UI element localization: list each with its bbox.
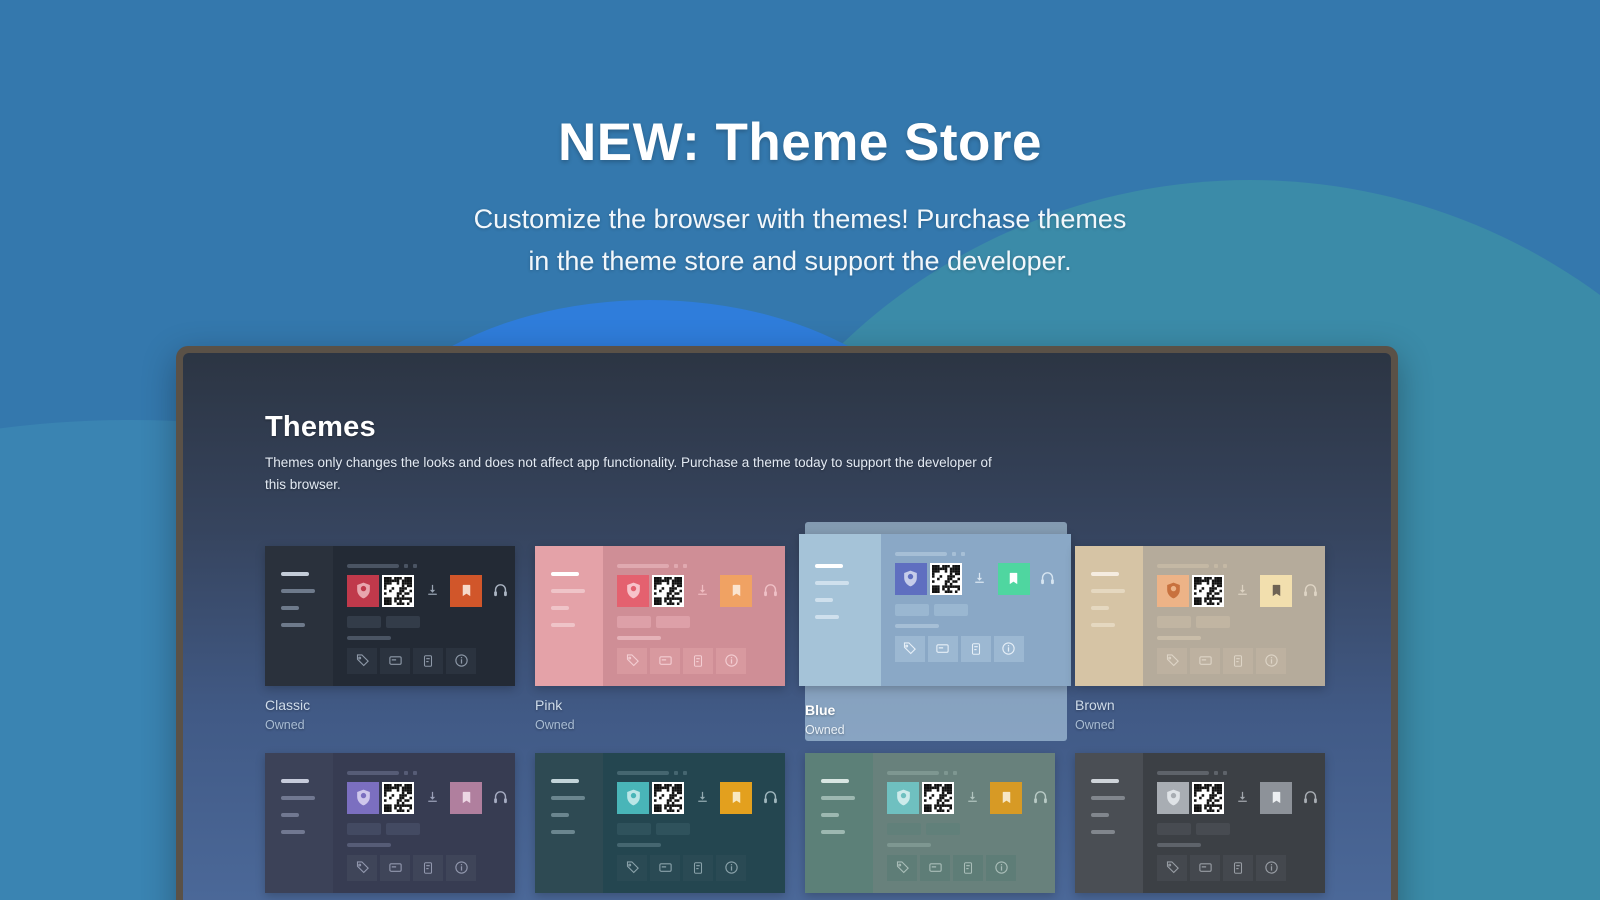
headphones-icon	[1295, 575, 1325, 607]
preview-header	[347, 564, 515, 568]
preview-header	[347, 771, 515, 775]
page-description: Themes only changes the looks and does n…	[265, 452, 1005, 496]
preview-sidebar-item	[281, 623, 305, 627]
book-icon	[953, 855, 983, 881]
preview-sidebar-item	[815, 615, 839, 619]
download-icon	[687, 782, 717, 814]
preview-sidebar-item	[1091, 589, 1125, 593]
preview-sidebar-item	[281, 796, 315, 800]
promo-subtitle-line-1: Customize the browser with themes! Purch…	[0, 199, 1600, 241]
shield-icon	[1157, 782, 1189, 814]
preview-content	[1143, 753, 1325, 893]
preview-app-row	[617, 782, 785, 814]
preview-sidebar	[805, 753, 873, 893]
preview-header-dot	[1214, 771, 1218, 775]
preview-sidebar-item	[281, 589, 315, 593]
book-icon	[961, 636, 991, 662]
preview-header-dot	[674, 771, 678, 775]
promo-subtitle-line-2: in the theme store and support the devel…	[0, 241, 1600, 283]
preview-content	[873, 753, 1055, 893]
preview-bottom-row	[895, 636, 1071, 662]
qr-code-icon	[1192, 782, 1224, 814]
preview-sidebar-item-active	[815, 564, 843, 568]
preview-bottom-row	[1157, 648, 1325, 674]
preview-sidebar-item	[1091, 796, 1125, 800]
preview-section-label	[887, 843, 931, 847]
preview-header-dot	[944, 771, 948, 775]
info-icon	[446, 855, 476, 881]
preview-pill-row	[617, 823, 785, 835]
preview-pill	[895, 604, 929, 616]
theme-preview[interactable]	[265, 753, 515, 893]
preview-pill	[386, 616, 420, 628]
theme-card[interactable]: BlueOwned	[805, 522, 1067, 741]
preview-sidebar	[535, 753, 603, 893]
preview-sidebar-item-active	[1091, 572, 1119, 576]
preview-header-dot	[1223, 564, 1227, 568]
window-icon	[380, 855, 410, 881]
preview-pill-row	[347, 616, 515, 628]
preview-pill-row	[887, 823, 1055, 835]
book-icon	[1223, 855, 1253, 881]
qr-code-icon	[922, 782, 954, 814]
shield-icon	[347, 575, 379, 607]
preview-header-dot	[952, 552, 956, 556]
theme-grid: ClassicOwnedPinkOwnedBlueOwnedBrownOwned	[265, 534, 1365, 900]
window-icon	[920, 855, 950, 881]
preview-sidebar	[535, 546, 603, 686]
preview-header	[895, 552, 1071, 556]
preview-pill	[617, 616, 651, 628]
preview-bottom-row	[617, 648, 785, 674]
theme-card[interactable]: PinkOwned	[535, 534, 797, 741]
download-icon	[1227, 782, 1257, 814]
tag-icon	[895, 636, 925, 662]
preview-pill-row	[1157, 616, 1325, 628]
bookmark-icon	[1260, 575, 1292, 607]
preview-sidebar	[1075, 753, 1143, 893]
preview-header-dot	[961, 552, 965, 556]
preview-header-bar	[1157, 564, 1209, 568]
theme-preview[interactable]	[805, 753, 1055, 893]
book-icon	[683, 855, 713, 881]
info-icon	[716, 648, 746, 674]
preview-sidebar-item-active	[281, 779, 309, 783]
preview-section-label	[617, 843, 661, 847]
info-icon	[446, 648, 476, 674]
shield-icon	[887, 782, 919, 814]
theme-card[interactable]: BrownOwned	[1075, 534, 1337, 741]
preview-sidebar-item	[281, 606, 299, 610]
theme-name: Blue	[805, 702, 1067, 718]
bookmark-icon	[720, 782, 752, 814]
theme-status: Owned	[1075, 718, 1337, 732]
qr-code-icon	[382, 575, 414, 607]
preview-sidebar-item	[551, 589, 585, 593]
preview-pill	[1196, 823, 1230, 835]
headphones-icon	[1025, 782, 1055, 814]
theme-preview[interactable]	[265, 546, 515, 686]
shield-icon	[347, 782, 379, 814]
preview-header-dot	[953, 771, 957, 775]
preview-sidebar-item-active	[281, 572, 309, 576]
preview-header-bar	[347, 771, 399, 775]
bookmark-icon	[450, 782, 482, 814]
preview-content	[333, 546, 515, 686]
shield-icon	[617, 782, 649, 814]
preview-header-bar	[1157, 771, 1209, 775]
preview-sidebar-item-active	[551, 572, 579, 576]
theme-preview[interactable]	[799, 534, 1071, 686]
preview-sidebar-item	[821, 796, 855, 800]
preview-sidebar-item	[815, 598, 833, 602]
preview-pill	[1196, 616, 1230, 628]
preview-section-label	[1157, 636, 1201, 640]
promo-subtitle: Customize the browser with themes! Purch…	[0, 199, 1600, 283]
preview-sidebar-item	[551, 623, 575, 627]
preview-sidebar	[1075, 546, 1143, 686]
preview-pill	[347, 823, 381, 835]
book-icon	[413, 855, 443, 881]
promo-banner: NEW: Theme Store Customize the browser w…	[0, 0, 1600, 283]
device-mockup: Themes Themes only changes the looks and…	[176, 346, 1398, 900]
preview-header-bar	[895, 552, 947, 556]
download-icon	[1227, 575, 1257, 607]
tag-icon	[887, 855, 917, 881]
preview-pill-row	[347, 823, 515, 835]
info-icon	[716, 855, 746, 881]
preview-header-dot	[404, 564, 408, 568]
qr-code-icon	[382, 782, 414, 814]
preview-sidebar-item	[551, 796, 585, 800]
headphones-icon	[1295, 782, 1325, 814]
qr-code-icon	[930, 563, 962, 595]
preview-header-bar	[617, 771, 669, 775]
theme-card[interactable]: ClassicOwned	[265, 534, 527, 741]
tag-icon	[347, 648, 377, 674]
preview-sidebar	[265, 753, 333, 893]
bookmark-icon	[450, 575, 482, 607]
preview-section-label	[347, 843, 391, 847]
bookmark-icon	[1260, 782, 1292, 814]
theme-preview[interactable]	[1075, 546, 1325, 686]
preview-sidebar-item	[551, 606, 569, 610]
preview-sidebar-item	[551, 830, 575, 834]
info-icon	[1256, 648, 1286, 674]
book-icon	[413, 648, 443, 674]
bookmark-icon	[998, 563, 1030, 595]
window-icon	[380, 648, 410, 674]
bookmark-icon	[990, 782, 1022, 814]
preview-app-row	[1157, 575, 1325, 607]
headphones-icon	[755, 782, 785, 814]
preview-content	[603, 753, 785, 893]
theme-name: Pink	[535, 697, 797, 713]
theme-status: Owned	[805, 723, 1067, 737]
download-icon	[965, 563, 995, 595]
preview-header-bar	[887, 771, 939, 775]
window-icon	[1190, 855, 1220, 881]
theme-status: Owned	[265, 718, 527, 732]
theme-preview[interactable]	[535, 753, 785, 893]
preview-pill	[934, 604, 968, 616]
preview-sidebar-item	[551, 813, 569, 817]
tag-icon	[1157, 855, 1187, 881]
preview-pill-row	[617, 616, 785, 628]
preview-header	[617, 564, 785, 568]
preview-sidebar-item-active	[551, 779, 579, 783]
headphones-icon	[755, 575, 785, 607]
preview-bottom-row	[347, 648, 515, 674]
tag-icon	[1157, 648, 1187, 674]
preview-content	[333, 753, 515, 893]
preview-header-dot	[683, 564, 687, 568]
theme-card[interactable]	[805, 741, 1067, 900]
theme-preview[interactable]	[535, 546, 785, 686]
preview-section-label	[347, 636, 391, 640]
theme-preview[interactable]	[1075, 753, 1325, 893]
preview-sidebar-item	[821, 830, 845, 834]
theme-status: Owned	[535, 718, 797, 732]
preview-pill-row	[1157, 823, 1325, 835]
preview-pill	[926, 823, 960, 835]
preview-bottom-row	[617, 855, 785, 881]
preview-sidebar-item-active	[1091, 779, 1119, 783]
info-icon	[994, 636, 1024, 662]
preview-sidebar-item	[815, 581, 849, 585]
preview-section-label	[1157, 843, 1201, 847]
device-screen: Themes Themes only changes the looks and…	[183, 353, 1391, 900]
preview-app-row	[1157, 782, 1325, 814]
window-icon	[928, 636, 958, 662]
preview-content	[1143, 546, 1325, 686]
book-icon	[1223, 648, 1253, 674]
preview-app-row	[347, 782, 515, 814]
tag-icon	[617, 855, 647, 881]
preview-sidebar	[265, 546, 333, 686]
window-icon	[1190, 648, 1220, 674]
download-icon	[417, 575, 447, 607]
qr-code-icon	[1192, 575, 1224, 607]
preview-header-dot	[413, 564, 417, 568]
preview-header	[1157, 771, 1325, 775]
preview-sidebar-item	[1091, 606, 1109, 610]
qr-code-icon	[652, 782, 684, 814]
preview-pill	[347, 616, 381, 628]
headphones-icon	[485, 782, 515, 814]
theme-name: Brown	[1075, 697, 1337, 713]
preview-header-dot	[1223, 771, 1227, 775]
book-icon	[683, 648, 713, 674]
download-icon	[417, 782, 447, 814]
preview-header	[1157, 564, 1325, 568]
preview-app-row	[347, 575, 515, 607]
preview-pill	[656, 616, 690, 628]
tag-icon	[617, 648, 647, 674]
headphones-icon	[485, 575, 515, 607]
preview-pill	[887, 823, 921, 835]
preview-bottom-row	[347, 855, 515, 881]
shield-icon	[895, 563, 927, 595]
preview-header-dot	[1214, 564, 1218, 568]
bookmark-icon	[720, 575, 752, 607]
preview-pill-row	[895, 604, 1071, 616]
preview-sidebar	[799, 534, 881, 686]
info-icon	[1256, 855, 1286, 881]
headphones-icon	[1033, 563, 1063, 595]
preview-sidebar-item	[1091, 813, 1109, 817]
preview-section-label	[895, 624, 939, 628]
preview-app-row	[895, 563, 1071, 595]
preview-sidebar-item-active	[821, 779, 849, 783]
theme-name: Classic	[265, 697, 527, 713]
theme-card[interactable]	[1075, 741, 1337, 900]
preview-sidebar-item	[281, 830, 305, 834]
window-icon	[650, 855, 680, 881]
preview-header-dot	[683, 771, 687, 775]
preview-header-dot	[413, 771, 417, 775]
preview-header	[617, 771, 785, 775]
preview-pill	[1157, 616, 1191, 628]
preview-sidebar-item	[821, 813, 839, 817]
theme-card[interactable]	[535, 741, 797, 900]
preview-content	[881, 534, 1071, 686]
preview-content	[603, 546, 785, 686]
preview-sidebar-item	[1091, 623, 1115, 627]
preview-app-row	[617, 575, 785, 607]
shield-icon	[1157, 575, 1189, 607]
download-icon	[687, 575, 717, 607]
preview-bottom-row	[887, 855, 1055, 881]
window-icon	[650, 648, 680, 674]
info-icon	[986, 855, 1016, 881]
preview-bottom-row	[1157, 855, 1325, 881]
preview-pill	[386, 823, 420, 835]
preview-pill	[1157, 823, 1191, 835]
preview-sidebar-item	[1091, 830, 1115, 834]
qr-code-icon	[652, 575, 684, 607]
preview-pill	[617, 823, 651, 835]
preview-pill	[656, 823, 690, 835]
download-icon	[957, 782, 987, 814]
preview-header-dot	[404, 771, 408, 775]
preview-header-dot	[674, 564, 678, 568]
tag-icon	[347, 855, 377, 881]
promo-title: NEW: Theme Store	[0, 112, 1600, 173]
preview-header-bar	[347, 564, 399, 568]
preview-sidebar-item	[281, 813, 299, 817]
preview-header	[887, 771, 1055, 775]
theme-card[interactable]	[265, 741, 527, 900]
preview-section-label	[617, 636, 661, 640]
preview-app-row	[887, 782, 1055, 814]
preview-header-bar	[617, 564, 669, 568]
page-title: Themes	[265, 411, 1391, 444]
shield-icon	[617, 575, 649, 607]
